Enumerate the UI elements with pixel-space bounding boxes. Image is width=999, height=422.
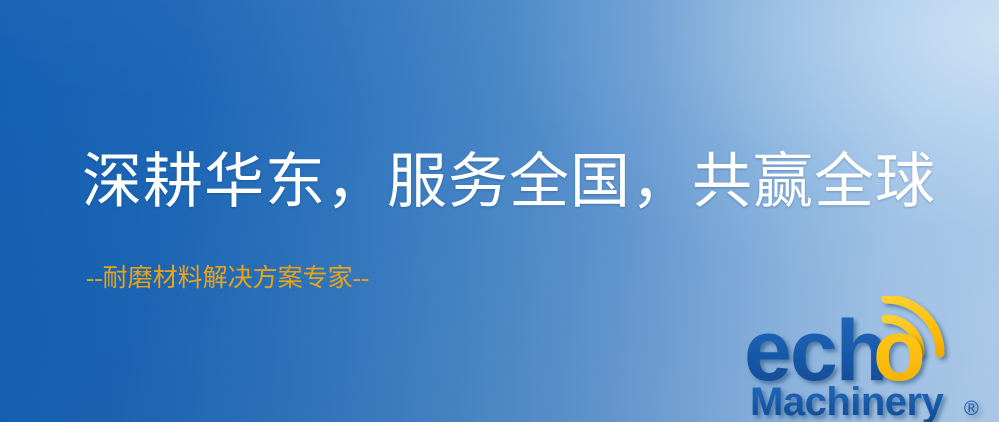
banner-subtitle: --耐磨材料解决方案专家-- (86, 265, 369, 293)
hero-banner: 深耕华东，服务全国，共赢全球 --耐磨材料解决方案专家-- (0, 0, 999, 422)
echo-machinery-logo[interactable]: ech o Machinery ® (744, 296, 999, 422)
logo-tagline: Machinery ® (750, 380, 979, 422)
logo-svg: ech o Machinery ® (744, 296, 999, 422)
banner-headline: 深耕华东，服务全国，共赢全球 (82, 152, 936, 212)
svg-text:Machinery: Machinery (750, 380, 945, 422)
svg-text:®: ® (964, 398, 979, 420)
